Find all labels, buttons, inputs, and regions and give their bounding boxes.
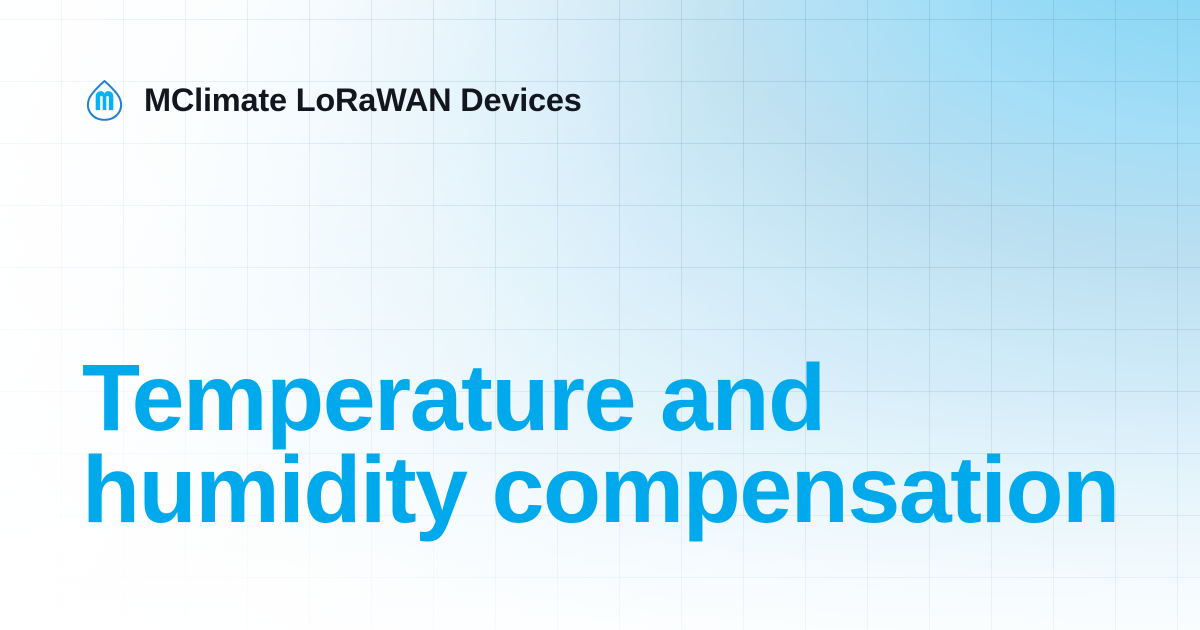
brand-header: MClimate LoRaWAN Devices [82,77,582,123]
page-headline: Temperature and humidity compensation [82,352,1122,536]
brand-title: MClimate LoRaWAN Devices [144,84,582,117]
og-image-canvas: MClimate LoRaWAN Devices Temperature and… [0,0,1200,630]
mclimate-water-drop-logo-icon [82,78,127,123]
